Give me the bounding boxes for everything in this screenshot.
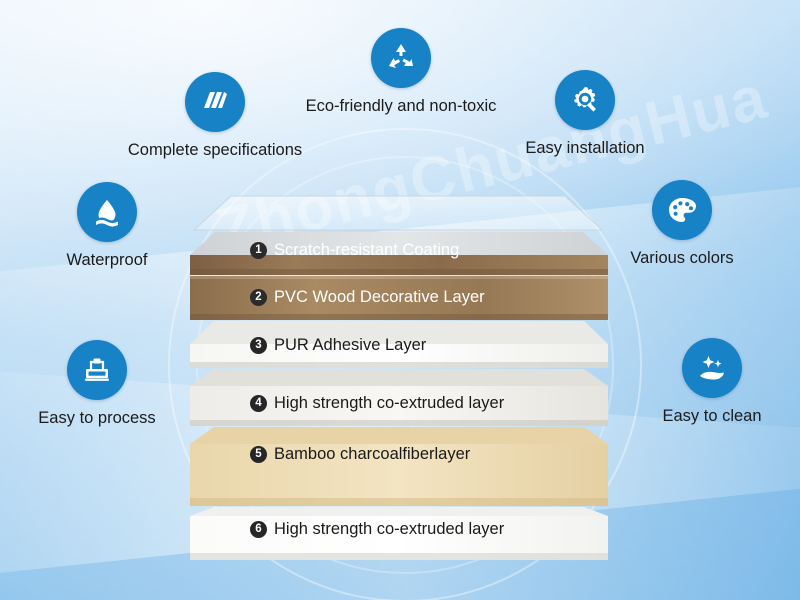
layer-number-3: 3 xyxy=(250,337,267,354)
watermark-subtitle: BUILDING MATERIAL xyxy=(191,356,620,484)
layer-number-2: 2 xyxy=(250,289,267,306)
layer-name-6: High strength co-extruded layer xyxy=(274,520,504,539)
layer-label-3: 3 PUR Adhesive Layer xyxy=(250,336,426,355)
feature-waterproof[interactable]: Waterproof xyxy=(27,182,187,270)
layer-number-6: 6 xyxy=(250,521,267,538)
layer-label-4: 4 High strength co-extruded layer xyxy=(250,394,504,413)
layer-label-5: 5 Bamboo charcoalfiberlayer xyxy=(250,445,470,464)
feature-easy-to-clean[interactable]: Easy to clean xyxy=(632,338,792,426)
layer-name-1: Scratch-resistant Coating xyxy=(274,241,459,260)
layer-shape-5 xyxy=(190,427,608,506)
layer-name-2: PVC Wood Decorative Layer xyxy=(274,288,485,307)
diagram-canvas: ZhongChuangHua BUILDING MATERIAL xyxy=(0,0,800,600)
gear-wrench-icon xyxy=(555,70,615,130)
sparkle-hand-icon xyxy=(682,338,742,398)
layers-icon xyxy=(185,72,245,132)
feature-label-easy-to-process: Easy to process xyxy=(12,409,182,428)
decorative-ring-inner xyxy=(196,156,614,574)
palette-icon xyxy=(652,180,712,240)
layer-number-4: 4 xyxy=(250,395,267,412)
layer-name-5: Bamboo charcoalfiberlayer xyxy=(274,445,470,464)
layer-number-5: 5 xyxy=(250,446,267,463)
feature-complete-specifications[interactable]: Complete specifications xyxy=(115,72,315,160)
layer-label-1: 1 Scratch-resistant Coating xyxy=(250,241,459,260)
layer-shape-protective-film xyxy=(194,196,602,230)
feature-various-colors[interactable]: Various colors xyxy=(602,180,762,268)
saw-machine-icon xyxy=(67,340,127,400)
feature-eco-friendly[interactable]: Eco-friendly and non-toxic xyxy=(286,28,516,116)
feature-label-waterproof: Waterproof xyxy=(27,251,187,270)
feature-label-various-colors: Various colors xyxy=(602,249,762,268)
layer-name-3: PUR Adhesive Layer xyxy=(274,336,426,355)
feature-easy-installation[interactable]: Easy installation xyxy=(500,70,670,158)
layer-label-6: 6 High strength co-extruded layer xyxy=(250,520,504,539)
layer-label-2: 2 PVC Wood Decorative Layer xyxy=(250,288,485,307)
feature-label-easy-to-clean: Easy to clean xyxy=(632,407,792,426)
feature-label-easy-installation: Easy installation xyxy=(500,139,670,158)
feature-label-complete-specifications: Complete specifications xyxy=(115,141,315,160)
feature-label-eco-friendly: Eco-friendly and non-toxic xyxy=(286,97,516,116)
water-drop-icon xyxy=(77,182,137,242)
recycle-icon xyxy=(371,28,431,88)
feature-easy-to-process[interactable]: Easy to process xyxy=(12,340,182,428)
layer-name-4: High strength co-extruded layer xyxy=(274,394,504,413)
layer-number-1: 1 xyxy=(250,242,267,259)
